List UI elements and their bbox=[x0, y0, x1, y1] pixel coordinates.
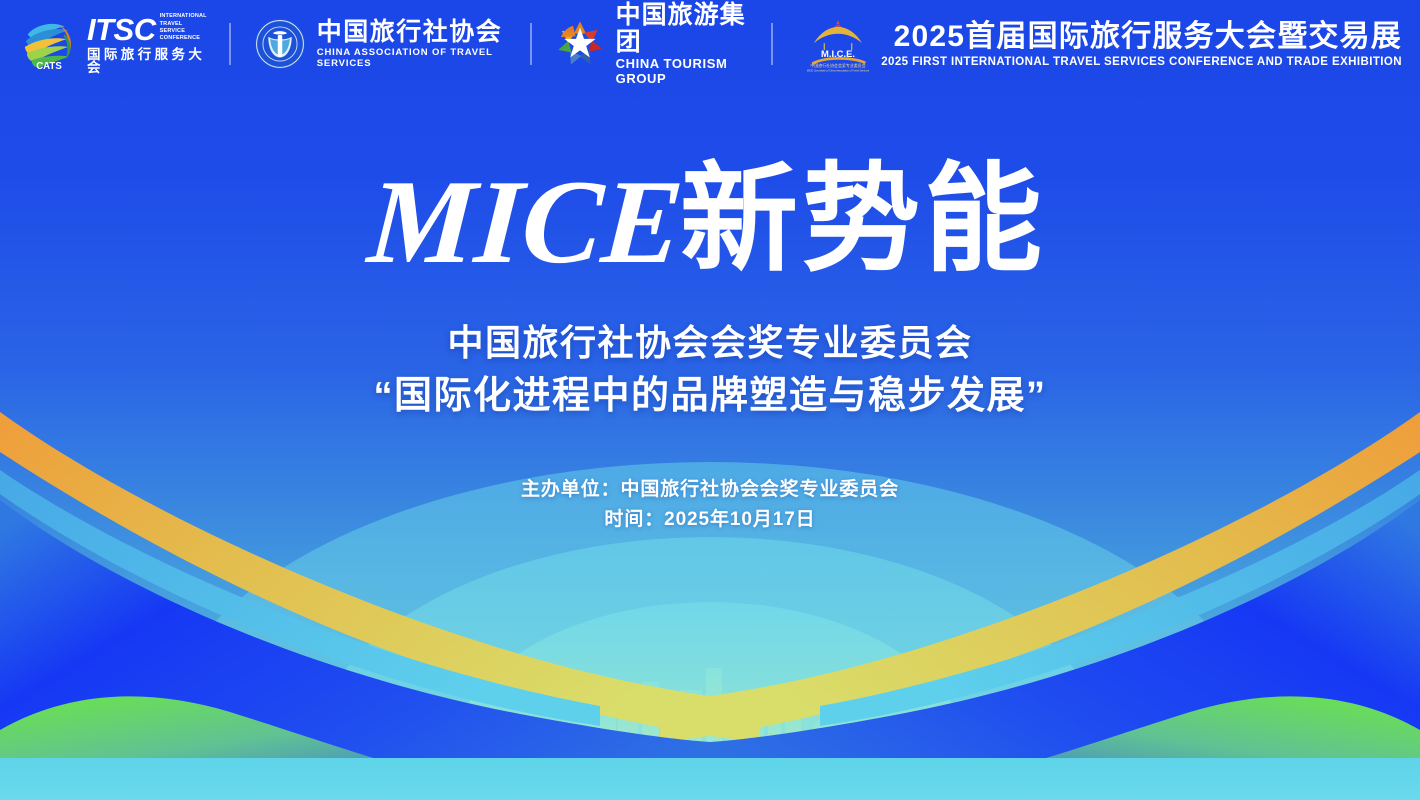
itsc-en-lines: INTERNATIONAL TRAVEL SERVICE CONFERENCE bbox=[160, 13, 207, 43]
ctg-en-name: CHINA TOURISM GROUP bbox=[616, 56, 750, 86]
subtitle-line-1: 中国旅行社协会会奖专业委员会 bbox=[0, 320, 1420, 366]
header-bar: CATS ITSC INTERNATIONAL TRAVEL SERVICE C… bbox=[0, 0, 1420, 88]
svg-text:CATS: CATS bbox=[36, 61, 62, 72]
cats-seal-icon bbox=[253, 17, 307, 71]
subtitle-line-2: “国际化进程中的品牌塑造与稳步发展” bbox=[0, 372, 1420, 421]
date-line: 时间：2025年10月17日 bbox=[0, 505, 1420, 535]
conference-title-cn: 2025首届国际旅行服务大会暨交易展 bbox=[881, 20, 1402, 54]
organizer-line: 主办单位：中国旅行社协会会奖专业委员会 bbox=[0, 475, 1420, 505]
itsc-cn-name: 国际旅行服务大会 bbox=[87, 48, 207, 75]
mice-pavilion-icon: M.I.C.E. 中国旅行社协会会奖专业委员会 MICE Committee o… bbox=[795, 14, 881, 74]
svg-text:MICE Committee of China Associ: MICE Committee of China Association of T… bbox=[807, 69, 870, 72]
logo-divider bbox=[530, 23, 532, 65]
conference-title-block: 2025首届国际旅行服务大会暨交易展 2025 FIRST INTERNATIO… bbox=[881, 20, 1406, 69]
itsc-logo[interactable]: CATS ITSC INTERNATIONAL TRAVEL SERVICE C… bbox=[20, 13, 207, 75]
china-tourism-group-logo[interactable]: 中国旅游集团 CHINA TOURISM GROUP bbox=[554, 13, 750, 75]
reflection-ripples bbox=[0, 758, 1420, 800]
mice-committee-logo[interactable]: M.I.C.E. 中国旅行社协会会奖专业委员会 MICE Committee o… bbox=[795, 13, 881, 75]
conference-title-en: 2025 FIRST INTERNATIONAL TRAVEL SERVICES… bbox=[881, 56, 1402, 68]
ctg-cn-name: 中国旅游集团 bbox=[616, 2, 750, 55]
ctg-flower-icon bbox=[554, 18, 606, 70]
cats-cn-name: 中国旅行社协会 bbox=[317, 19, 508, 45]
logo-divider bbox=[771, 23, 773, 65]
event-meta: 主办单位：中国旅行社协会会奖专业委员会 时间：2025年10月17日 bbox=[0, 475, 1420, 535]
main-content: MICE 新势能 中国旅行社协会会奖专业委员会 “国际化进程中的品牌塑造与稳步发… bbox=[0, 150, 1420, 535]
cats-logo[interactable]: 中国旅行社协会 CHINA ASSOCIATION OF TRAVEL SERV… bbox=[253, 13, 508, 75]
banner-stage: CATS ITSC INTERNATIONAL TRAVEL SERVICE C… bbox=[0, 0, 1420, 800]
logo-group: CATS ITSC INTERNATIONAL TRAVEL SERVICE C… bbox=[20, 0, 881, 88]
key-visual-title: MICE 新势能 bbox=[360, 150, 1060, 300]
itsc-abbr: ITSC bbox=[87, 15, 156, 44]
svg-text:中国旅行社协会会奖专业委员会: 中国旅行社协会会奖专业委员会 bbox=[811, 63, 866, 68]
logo-divider bbox=[229, 23, 231, 65]
cats-en-name: CHINA ASSOCIATION OF TRAVEL SERVICES bbox=[317, 47, 508, 69]
kv-title-cn: 新势能 bbox=[680, 150, 1046, 288]
itsc-globe-icon: CATS bbox=[20, 15, 78, 73]
kv-title-latin: MICE bbox=[362, 155, 687, 288]
